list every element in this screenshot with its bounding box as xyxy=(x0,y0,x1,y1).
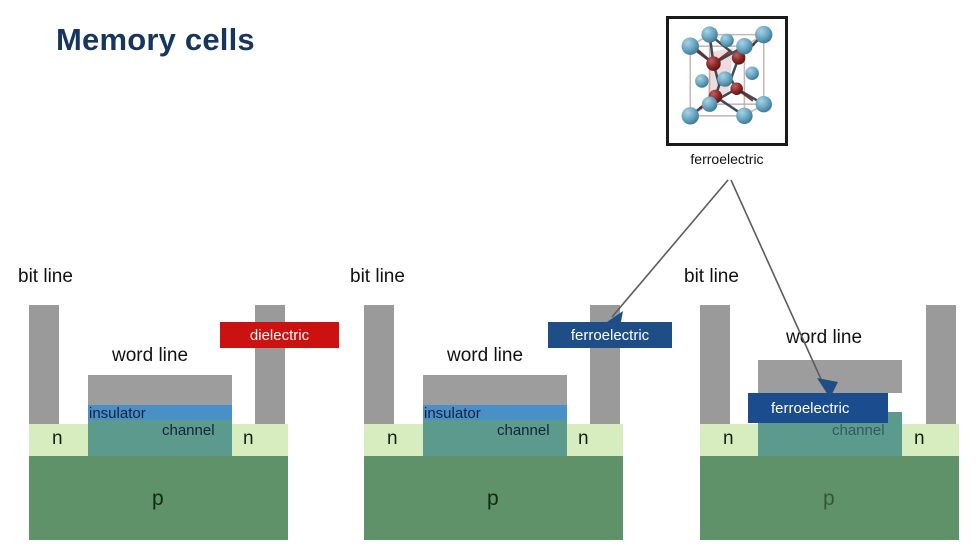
bit-line-label: bit line xyxy=(350,266,405,288)
ferroelectric-gate-label: ferroelectric xyxy=(771,400,849,417)
bit-line-label: bit line xyxy=(684,266,739,288)
memory-cell-fe-gate: bit line word line insulator channel fer… xyxy=(660,0,977,549)
word-line-label: word line xyxy=(786,327,862,349)
n-label-left: n xyxy=(52,428,63,450)
bit-line-left[interactable] xyxy=(700,305,730,424)
channel-label: channel xyxy=(832,422,885,439)
p-label: p xyxy=(487,487,499,511)
n-label-right: n xyxy=(914,428,925,450)
insulator-label: insulator xyxy=(424,405,481,422)
bit-line-left[interactable] xyxy=(364,305,394,424)
n-label-right: n xyxy=(243,428,254,450)
n-label-left: n xyxy=(723,428,734,450)
memory-cell-fe-bitline: bit line word line insulator channel n n… xyxy=(330,0,660,549)
word-line-label: word line xyxy=(447,345,523,367)
p-label: p xyxy=(152,487,164,511)
n-label-right: n xyxy=(578,428,589,450)
p-label: p xyxy=(823,487,835,511)
word-line-gate[interactable] xyxy=(758,360,902,393)
memory-cell-dram: bit line word line insulator channel n n… xyxy=(0,0,330,549)
dielectric-callout-chip[interactable]: dielectric xyxy=(220,322,339,348)
n-label-left: n xyxy=(387,428,398,450)
word-line-label: word line xyxy=(112,345,188,367)
insulator-label: insulator xyxy=(89,405,146,422)
channel-label: channel xyxy=(162,422,215,439)
ferroelectric-callout-chip[interactable]: ferroelectric xyxy=(548,322,672,348)
bit-line-right[interactable] xyxy=(926,305,956,424)
word-line-gate[interactable] xyxy=(88,375,232,405)
bit-line-label: bit line xyxy=(18,266,73,288)
dielectric-callout-text: dielectric xyxy=(250,327,309,344)
word-line-gate[interactable] xyxy=(423,375,567,405)
bit-line-left[interactable] xyxy=(29,305,59,424)
channel-label: channel xyxy=(497,422,550,439)
slide-canvas: Memory cells xyxy=(0,0,977,549)
ferroelectric-callout-text: ferroelectric xyxy=(571,327,649,344)
